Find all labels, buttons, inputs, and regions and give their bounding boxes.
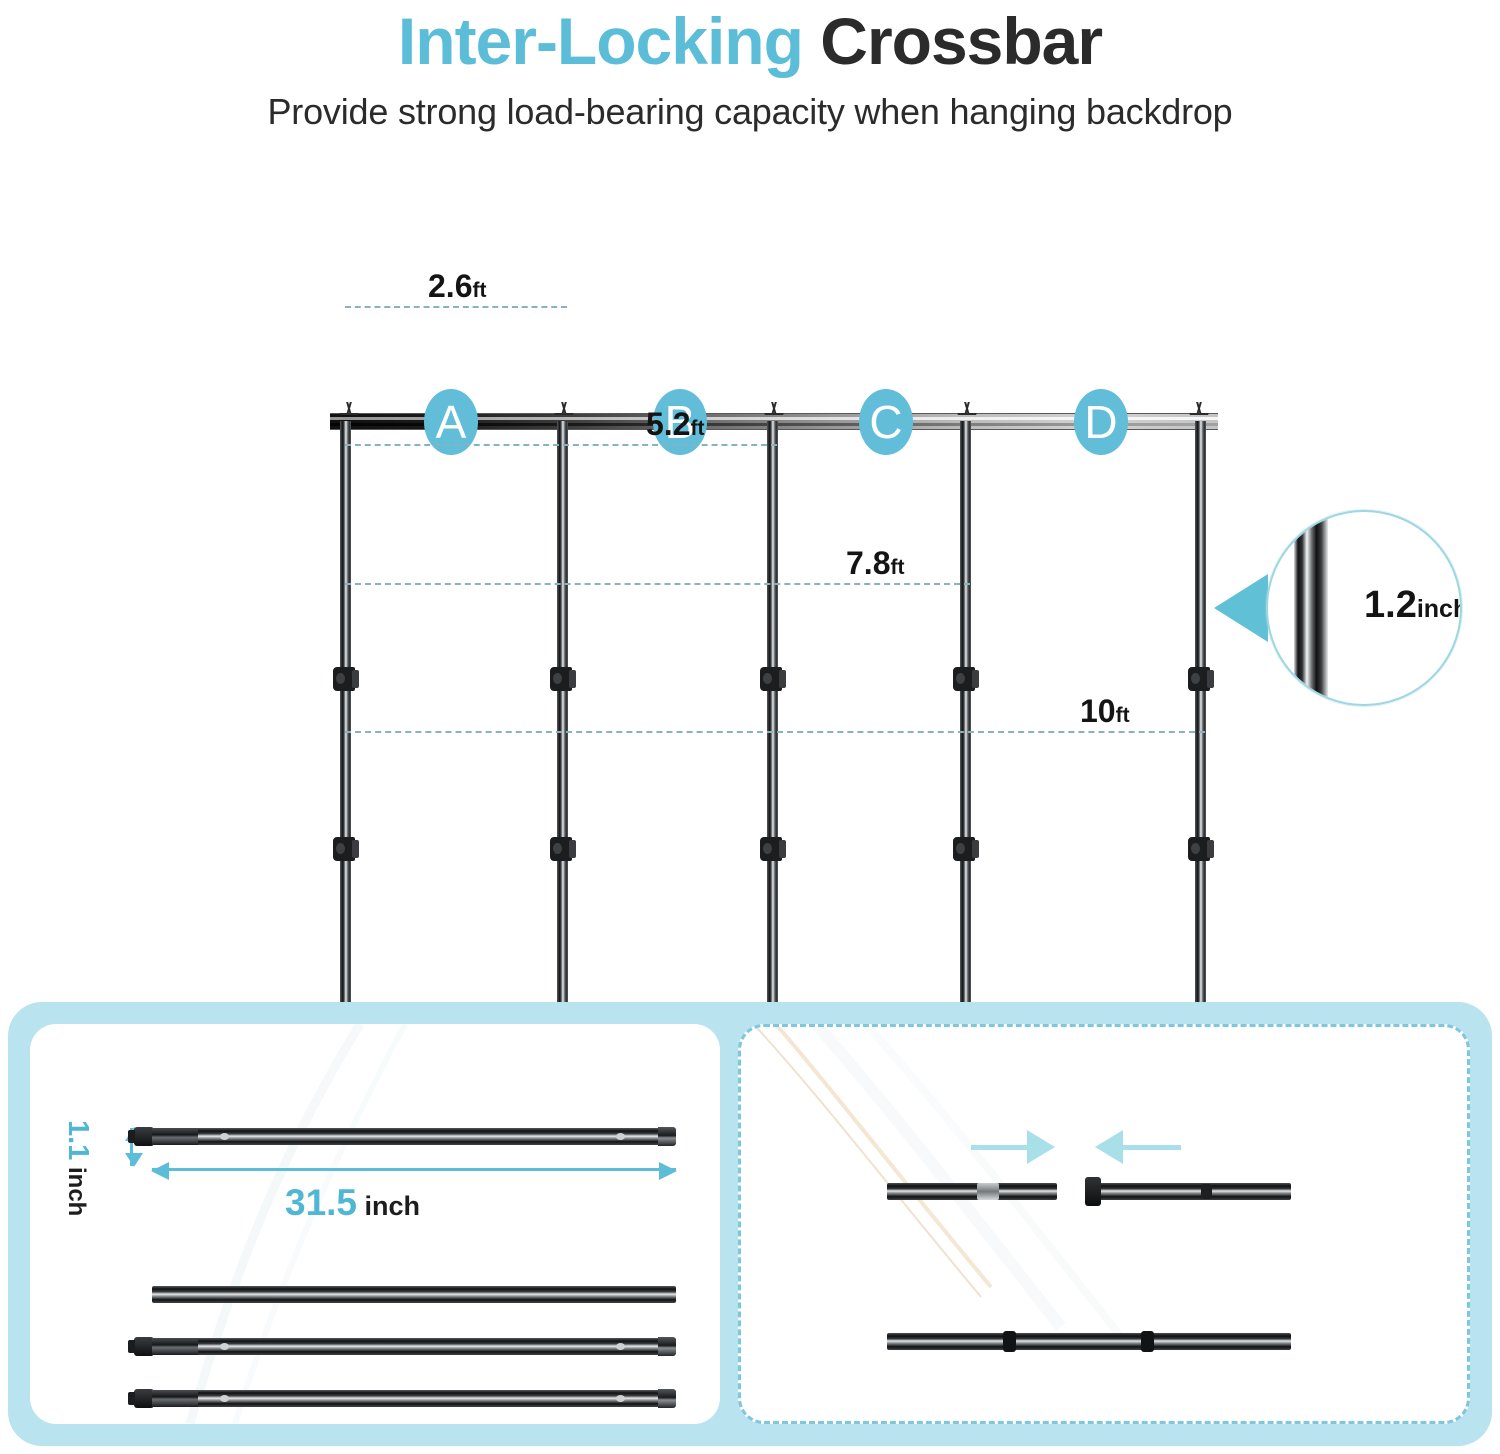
assemble-arrow-left-shaft: [1123, 1145, 1181, 1150]
pole-lock-knob: [550, 837, 572, 861]
crossbar-badge-c: C: [859, 389, 913, 455]
height-label-5-2ft: 5.2ft: [646, 406, 704, 443]
crossbar-segment-1: [148, 1128, 676, 1145]
pole-lock-knob: [760, 667, 782, 691]
pole-lock-knob: [1188, 667, 1210, 691]
height-line-2-6ft: [345, 306, 567, 308]
title-main-text: Crossbar: [820, 4, 1102, 78]
crossbar-clip-icon: [956, 402, 978, 414]
pole-lock-knob: [953, 667, 975, 691]
pole-lock-knob: [333, 837, 355, 861]
segment-end-tip: [658, 1127, 676, 1146]
pole-lock-knob: [1188, 837, 1210, 861]
joined-lock-clip: [1003, 1331, 1016, 1352]
segment-end-cap: [134, 1337, 154, 1356]
header: Inter-Locking Crossbar Provide strong lo…: [0, 0, 1500, 133]
crossbar-diameter-label: 1.1 inch: [61, 1120, 94, 1216]
crossbar-clip-icon: [553, 402, 575, 414]
stand-pole: [340, 421, 351, 1057]
height-label-7-8ft: 7.8ft: [846, 545, 904, 582]
page-subtitle: Provide strong load-bearing capacity whe…: [0, 91, 1500, 133]
crossbar-badge-d: D: [1074, 389, 1128, 455]
page-title: Inter-Locking Crossbar: [0, 6, 1500, 77]
assemble-arrow-left-icon: [1095, 1130, 1123, 1164]
segment-lock-hole: [220, 1133, 229, 1140]
segment-lock-hole: [616, 1395, 625, 1402]
background-swoosh-gold: [741, 1027, 1441, 1424]
segment-end-cap: [134, 1389, 154, 1408]
height-line-5-2ft: [345, 444, 777, 446]
title-accent-text: Inter-Locking: [398, 4, 803, 78]
stand-pole: [767, 421, 778, 1057]
crossbar-dimensions-panel: 1.1 inch 31.5 inch: [30, 1024, 720, 1424]
crossbar-clip-icon: [1188, 402, 1210, 414]
crossbar-segment-3: [148, 1338, 676, 1355]
crossbar-clip-icon: [338, 402, 360, 414]
assemble-arrow-right-shaft: [971, 1145, 1029, 1150]
pole-lock-knob: [550, 667, 572, 691]
stand-pole: [1195, 421, 1206, 1057]
pole-locking-pin: [977, 1183, 999, 1200]
joined-lock-clip: [1141, 1331, 1154, 1352]
stand-pole: [557, 421, 568, 1057]
pole-lock-knob: [953, 837, 975, 861]
callout-pointer-icon: [1214, 574, 1268, 642]
callout-label: 1.2inch: [1364, 584, 1462, 627]
segment-sleeve: [152, 1338, 198, 1355]
height-line-7-8ft: [345, 583, 970, 585]
pole-lock-knob: [333, 667, 355, 691]
stand-diagram: A B C D: [0, 185, 1500, 995]
pole-lock-knob: [760, 837, 782, 861]
bottom-panels-container: 1.1 inch 31.5 inch: [8, 1002, 1492, 1446]
segment-lock-hole: [220, 1343, 229, 1350]
segment-end-tip: [658, 1337, 676, 1356]
interlock-assembly-panel: [738, 1024, 1470, 1424]
assembled-pole-joined: [887, 1333, 1291, 1350]
crossbar-segment-2: [152, 1286, 676, 1303]
segment-end-cap: [134, 1127, 154, 1146]
background-swoosh: [30, 1024, 720, 1424]
segment-lock-hole: [616, 1133, 625, 1140]
assembly-pole-right: [1085, 1183, 1291, 1200]
assembly-pole-left: [887, 1183, 1057, 1200]
segment-lock-hole: [220, 1395, 229, 1402]
assemble-arrow-right-icon: [1027, 1130, 1055, 1164]
callout-pole-graphic: [1294, 510, 1328, 706]
crossbar-clip-icon: [763, 402, 785, 414]
height-label-10ft: 10ft: [1080, 693, 1130, 730]
segment-sleeve: [152, 1390, 198, 1407]
segment-lock-hole: [616, 1343, 625, 1350]
stand-pole: [960, 421, 971, 1057]
connector-spring-pin: [1201, 1184, 1212, 1199]
height-label-2-6ft: 2.6ft: [428, 268, 486, 305]
pole-diameter-callout: 1.2inch: [1266, 510, 1462, 706]
crossbar-length-label: 31.5 inch: [285, 1182, 420, 1224]
segment-end-tip: [658, 1389, 676, 1408]
height-line-10ft: [345, 731, 1205, 733]
segment-sleeve: [152, 1128, 198, 1145]
crossbar-segment-4: [148, 1390, 676, 1407]
connector-plug: [1099, 1179, 1161, 1204]
length-arrow-horizontal: [152, 1168, 676, 1171]
